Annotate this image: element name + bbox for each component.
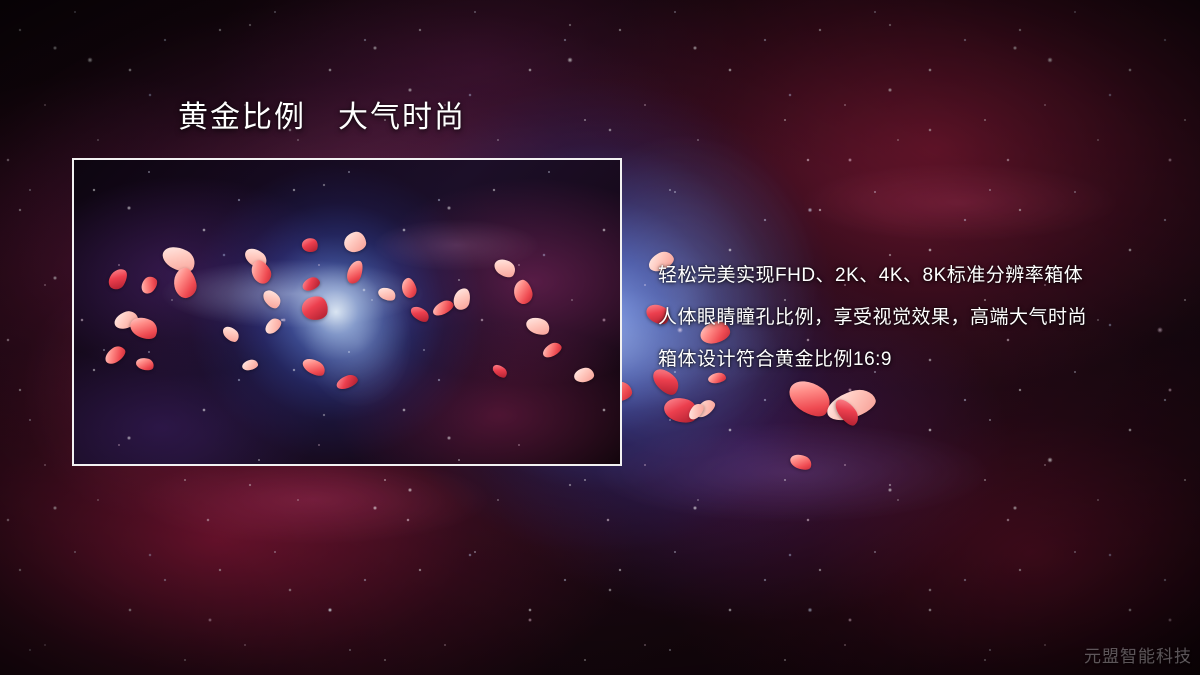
watermark: 元盟智能科技 [1084,642,1192,667]
framed-photo [72,158,622,466]
body-line-2: 人体眼睛瞳孔比例，享受视觉效果，高端大气时尚 [658,297,1178,339]
background-petal [788,451,814,472]
background-petal [686,401,706,422]
body-line-3: 箱体设计符合黄金比例16:9 [658,339,1178,381]
background-petal [692,397,717,420]
body-line-1: 轻松完美实现FHD、2K、4K、8K标准分辨率箱体 [658,255,1178,297]
inner-nebula-wisps [74,160,620,464]
page-title: 黄金比例 大气时尚 [178,100,466,136]
background-petal [832,395,863,429]
background-petal [823,385,879,425]
background-petal [661,393,701,426]
presentation-slide: 黄金比例 大气时尚 轻松完美实现FHD、2K、4K、8K标准分辨率箱体 人体眼睛… [0,0,1200,675]
body-copy: 轻松完美实现FHD、2K、4K、8K标准分辨率箱体 人体眼睛瞳孔比例，享受视觉效… [658,255,1178,381]
